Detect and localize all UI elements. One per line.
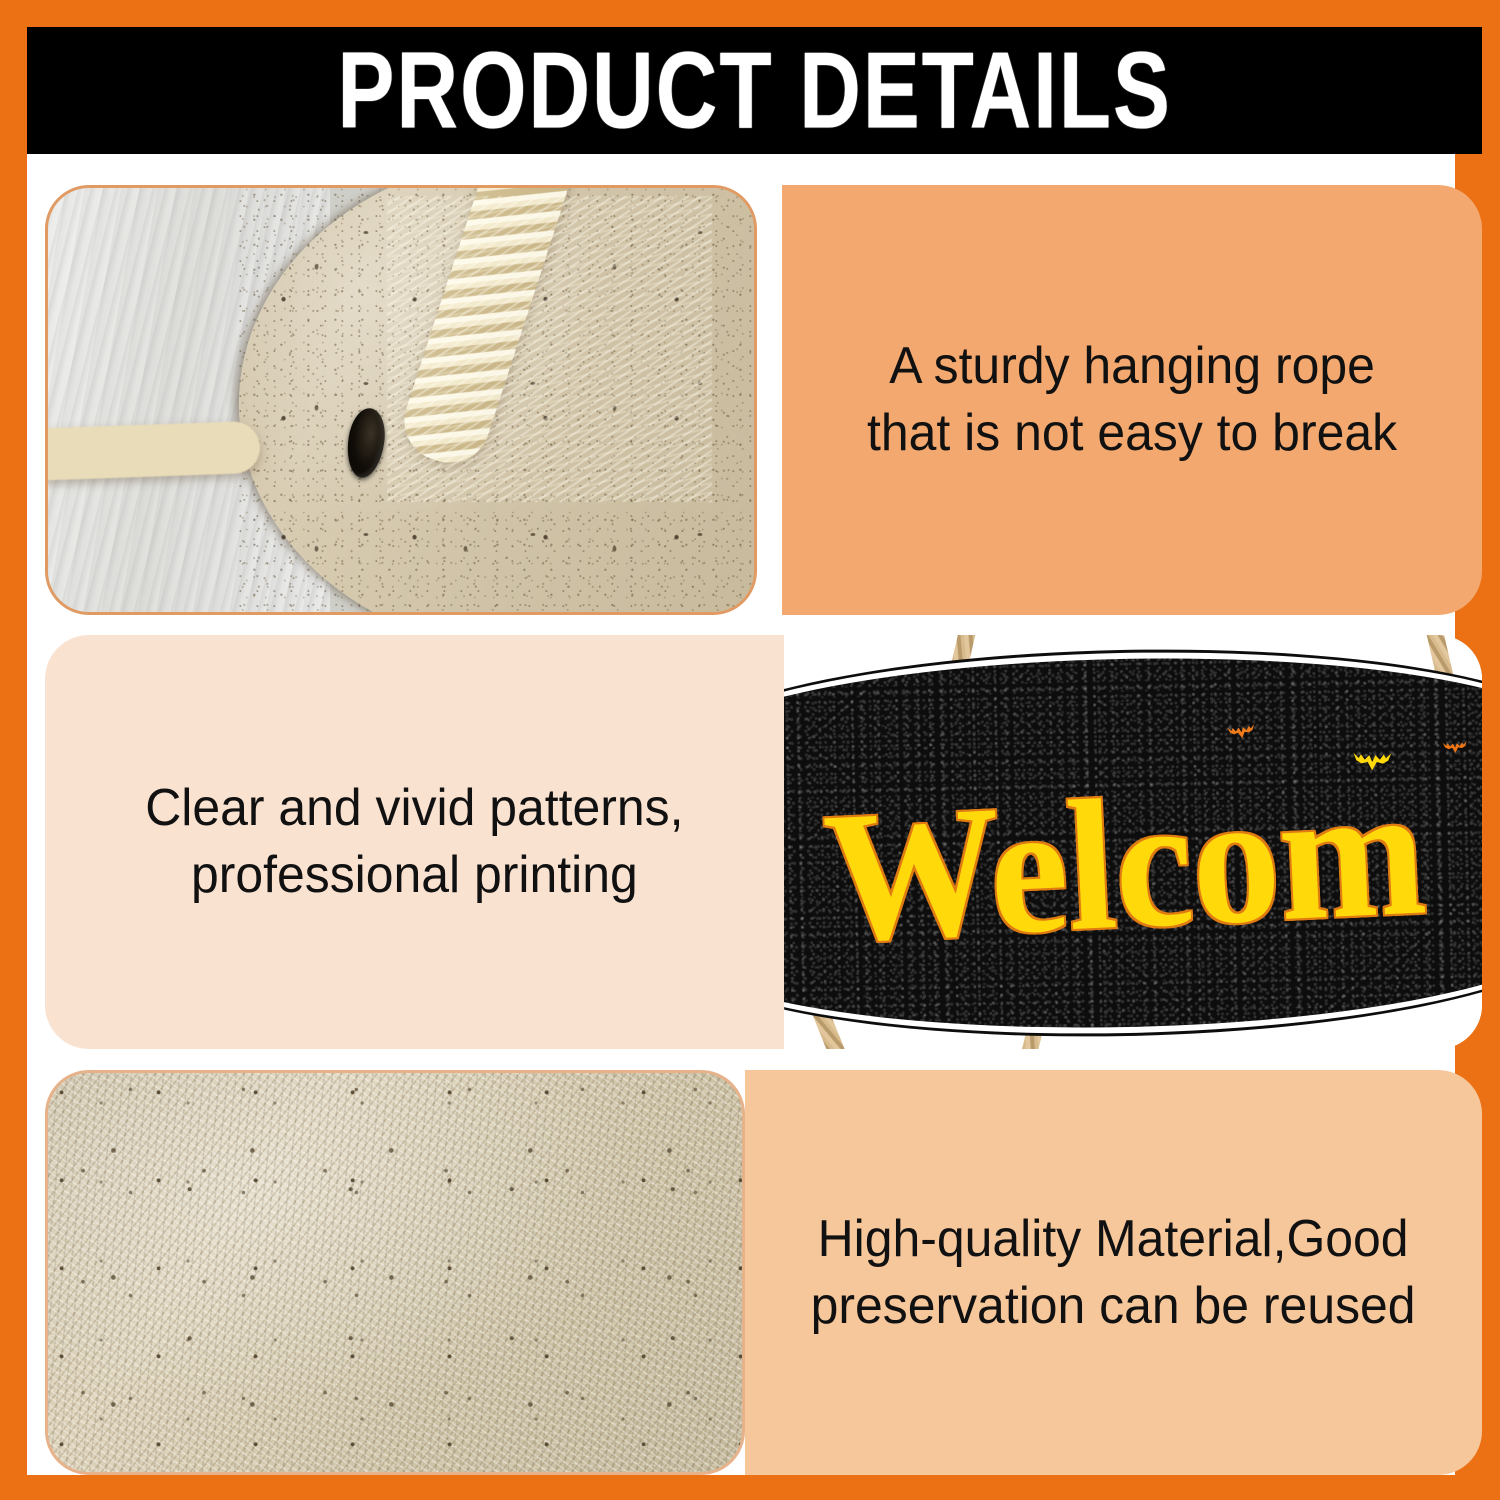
welcome-sign-photo: Welcom [784, 635, 1482, 1049]
feature-row-1: A sturdy hanging rope that is not easy t… [45, 185, 1482, 615]
rope-photo-canvas [48, 188, 754, 612]
caption-3-line-1: High-quality Material,Good [818, 1210, 1409, 1268]
feature-caption-2: Clear and vivid patterns, professional p… [118, 775, 710, 908]
feature-text-panel-3: High-quality Material,Good preservation … [745, 1070, 1482, 1475]
caption-2-line-1: Clear and vivid patterns, [145, 779, 683, 837]
sign-welcome-text: Welcom [784, 750, 1482, 979]
sign-board-wrapper: Welcom [784, 653, 1482, 1033]
feature-text-panel-1: A sturdy hanging rope that is not easy t… [782, 185, 1482, 615]
header-bar: PRODUCT DETAILS [27, 27, 1482, 154]
rope-strand-left [45, 421, 261, 481]
material-photo-canvas [48, 1073, 742, 1472]
sign-photo-canvas: Welcom [784, 635, 1482, 1049]
feature-text-panel-2: Clear and vivid patterns, professional p… [45, 635, 784, 1049]
caption-1-line-1: A sturdy hanging rope [889, 337, 1375, 395]
feature-caption-1: A sturdy hanging rope that is not easy t… [840, 333, 1424, 466]
infographic-page: PRODUCT DETAILS A stu [0, 0, 1500, 1500]
feature-caption-3: High-quality Material,Good preservation … [784, 1206, 1443, 1339]
sign-board: Welcom [784, 643, 1482, 1042]
feature-row-2: Clear and vivid patterns, professional p… [45, 635, 1482, 1049]
bat-icon-orange-left [1226, 715, 1256, 745]
feature-row-3: High-quality Material,Good preservation … [45, 1070, 1482, 1475]
infographic-inner: PRODUCT DETAILS A stu [27, 27, 1455, 1475]
page-title: PRODUCT DETAILS [337, 36, 1171, 145]
caption-1-line-2: that is not easy to break [867, 404, 1397, 462]
material-texture-photo [45, 1070, 745, 1475]
material-speckles [48, 1073, 742, 1472]
hanging-rope-hole-photo [45, 185, 757, 615]
caption-2-line-2: professional printing [191, 846, 638, 904]
caption-3-line-2: preservation can be reused [811, 1277, 1416, 1335]
